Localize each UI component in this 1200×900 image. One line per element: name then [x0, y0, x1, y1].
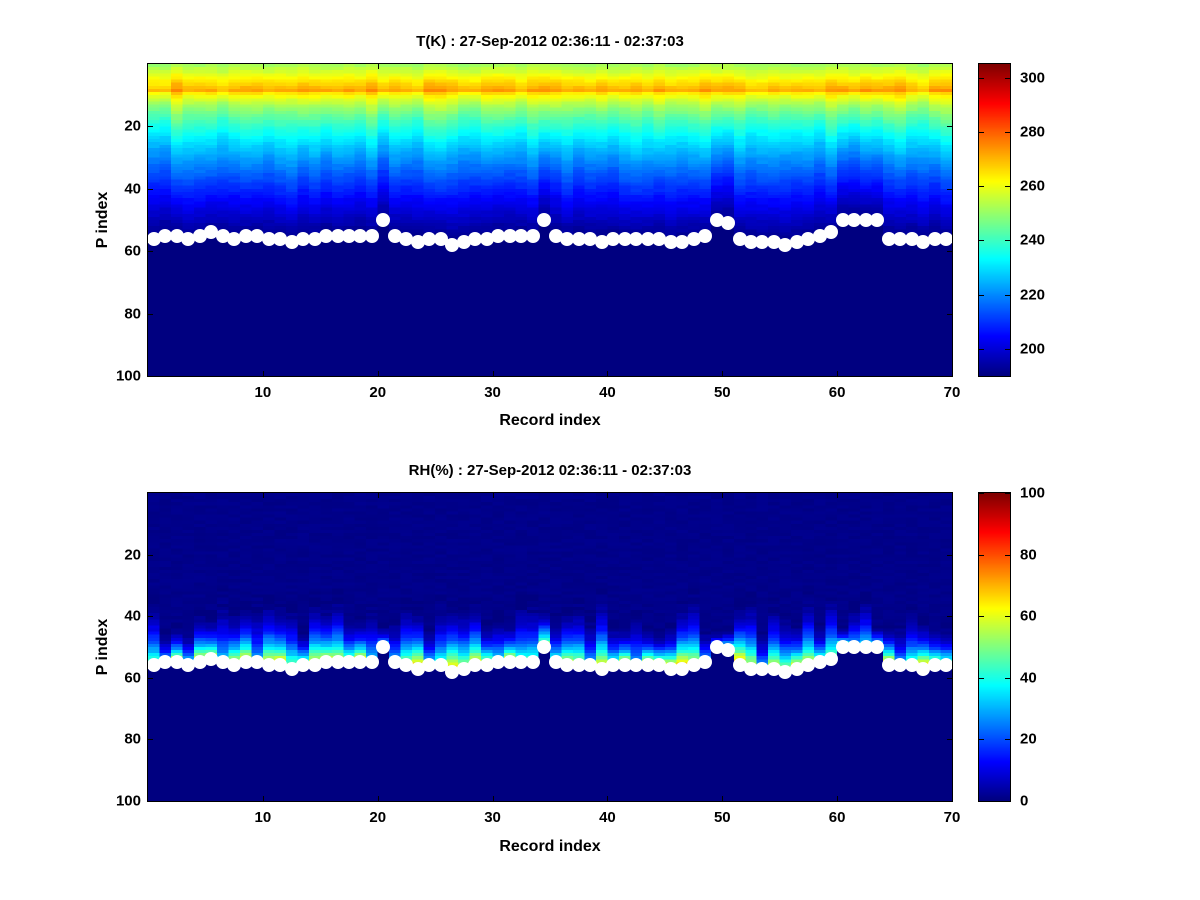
yaxis-tick: [147, 251, 153, 252]
colorbar-tick-right: [1005, 555, 1011, 556]
xaxis-tick: [837, 796, 838, 802]
colorbar-tick-label: 40: [1020, 669, 1037, 686]
colorbar-tick-label: 300: [1020, 69, 1045, 86]
xaxis-tick-label: 30: [484, 384, 501, 401]
yaxis-tick-right: [947, 314, 953, 315]
yaxis-tick: [147, 314, 153, 315]
xaxis-tick-label: 20: [369, 384, 386, 401]
yaxis-tick: [147, 376, 153, 377]
xaxis-tick-label: 20: [369, 809, 386, 826]
yaxis-tick-right: [947, 801, 953, 802]
colorbar-tick-right: [1005, 678, 1011, 679]
xaxis-tick: [263, 371, 264, 377]
xaxis-tick-top: [493, 63, 494, 69]
xaxis-tick: [378, 371, 379, 377]
yaxis-tick: [147, 739, 153, 740]
xaxis-tick-top: [607, 63, 608, 69]
colorbar-tick-right: [1005, 240, 1011, 241]
colorbar-tick-label: 80: [1020, 546, 1037, 563]
colorbar-tick-label: 280: [1020, 123, 1045, 140]
colorbar-tick-left: [978, 616, 984, 617]
xaxis-tick-top: [263, 63, 264, 69]
colorbar-tick-left: [978, 186, 984, 187]
colorbar-tick-right: [1005, 78, 1011, 79]
colorbar-tick-left: [978, 493, 984, 494]
humidity-yaxis-label: P index: [94, 619, 112, 676]
colorbar-tick-left: [978, 349, 984, 350]
xaxis-tick-top: [607, 492, 608, 498]
yaxis-tick-label: 100: [103, 793, 141, 810]
humidity-xaxis-label: Record index: [499, 838, 600, 856]
xaxis-tick: [378, 796, 379, 802]
xaxis-tick-top: [952, 63, 953, 69]
xaxis-tick-label: 60: [829, 384, 846, 401]
yaxis-tick-right: [947, 189, 953, 190]
colorbar-tick-label: 60: [1020, 608, 1037, 625]
colorbar-tick-left: [978, 678, 984, 679]
temperature-colorbar[interactable]: [978, 63, 1011, 377]
yaxis-tick-right: [947, 376, 953, 377]
yaxis-tick-right: [947, 678, 953, 679]
yaxis-tick-right: [947, 126, 953, 127]
temperature-heatmap-image: [148, 64, 952, 376]
humidity-heatmap-image: [148, 493, 952, 801]
xaxis-tick: [837, 371, 838, 377]
colorbar-tick-left: [978, 555, 984, 556]
yaxis-tick: [147, 801, 153, 802]
humidity-colorbar[interactable]: [978, 492, 1011, 802]
colorbar-tick-right: [1005, 493, 1011, 494]
yaxis-tick-right: [947, 251, 953, 252]
humidity-heatmap-axes[interactable]: [147, 492, 953, 802]
humidity-colorbar-gradient: [979, 493, 1010, 801]
colorbar-tick-left: [978, 240, 984, 241]
xaxis-tick-top: [722, 492, 723, 498]
colorbar-tick-right: [1005, 616, 1011, 617]
xaxis-tick-top: [837, 492, 838, 498]
figure-canvas: T(K) : 27-Sep-2012 02:36:11 - 02:37:03 1…: [0, 0, 1200, 900]
colorbar-tick-right: [1005, 186, 1011, 187]
xaxis-tick-top: [263, 492, 264, 498]
xaxis-tick-top: [378, 63, 379, 69]
yaxis-tick: [147, 616, 153, 617]
colorbar-tick-right: [1005, 739, 1011, 740]
xaxis-tick-label: 40: [599, 384, 616, 401]
yaxis-tick: [147, 555, 153, 556]
colorbar-tick-right: [1005, 132, 1011, 133]
xaxis-tick-label: 50: [714, 809, 731, 826]
temperature-xaxis-label: Record index: [499, 412, 600, 430]
xaxis-tick: [493, 371, 494, 377]
colorbar-tick-left: [978, 132, 984, 133]
yaxis-tick: [147, 189, 153, 190]
xaxis-tick: [722, 796, 723, 802]
yaxis-tick: [147, 678, 153, 679]
xaxis-tick-label: 10: [255, 384, 272, 401]
colorbar-tick-right: [1005, 349, 1011, 350]
colorbar-tick-right: [1005, 295, 1011, 296]
xaxis-tick-top: [493, 492, 494, 498]
colorbar-tick-right: [1005, 801, 1011, 802]
xaxis-tick-top: [378, 492, 379, 498]
xaxis-tick-top: [837, 63, 838, 69]
yaxis-tick-right: [947, 739, 953, 740]
xaxis-tick-label: 70: [944, 809, 961, 826]
yaxis-tick-label: 80: [103, 731, 141, 748]
temperature-heatmap-axes[interactable]: [147, 63, 953, 377]
yaxis-tick-right: [947, 616, 953, 617]
colorbar-tick-label: 20: [1020, 731, 1037, 748]
colorbar-tick-label: 240: [1020, 232, 1045, 249]
yaxis-tick-label: 20: [103, 546, 141, 563]
temperature-yaxis-label: P index: [94, 192, 112, 249]
xaxis-tick: [493, 796, 494, 802]
temperature-colorbar-gradient: [979, 64, 1010, 376]
colorbar-tick-label: 100: [1020, 485, 1045, 502]
colorbar-tick-label: 0: [1020, 793, 1028, 810]
xaxis-tick-label: 60: [829, 809, 846, 826]
colorbar-tick-left: [978, 739, 984, 740]
yaxis-tick-label: 80: [103, 305, 141, 322]
xaxis-tick: [607, 796, 608, 802]
xaxis-tick-label: 10: [255, 809, 272, 826]
colorbar-tick-label: 200: [1020, 340, 1045, 357]
xaxis-tick: [263, 796, 264, 802]
xaxis-tick-top: [722, 63, 723, 69]
panel-title-humidity: RH(%) : 27-Sep-2012 02:36:11 - 02:37:03: [147, 462, 953, 479]
yaxis-tick-label: 20: [103, 118, 141, 135]
colorbar-tick-left: [978, 801, 984, 802]
panel-title-temperature: T(K) : 27-Sep-2012 02:36:11 - 02:37:03: [147, 33, 953, 50]
colorbar-tick-left: [978, 295, 984, 296]
colorbar-tick-label: 260: [1020, 178, 1045, 195]
yaxis-tick: [147, 126, 153, 127]
xaxis-tick: [607, 371, 608, 377]
yaxis-tick-label: 100: [103, 368, 141, 385]
colorbar-tick-left: [978, 78, 984, 79]
colorbar-tick-label: 220: [1020, 286, 1045, 303]
xaxis-tick-label: 70: [944, 384, 961, 401]
xaxis-tick-top: [952, 492, 953, 498]
xaxis-tick-label: 50: [714, 384, 731, 401]
xaxis-tick: [722, 371, 723, 377]
xaxis-tick-label: 40: [599, 809, 616, 826]
xaxis-tick-label: 30: [484, 809, 501, 826]
yaxis-tick-right: [947, 555, 953, 556]
